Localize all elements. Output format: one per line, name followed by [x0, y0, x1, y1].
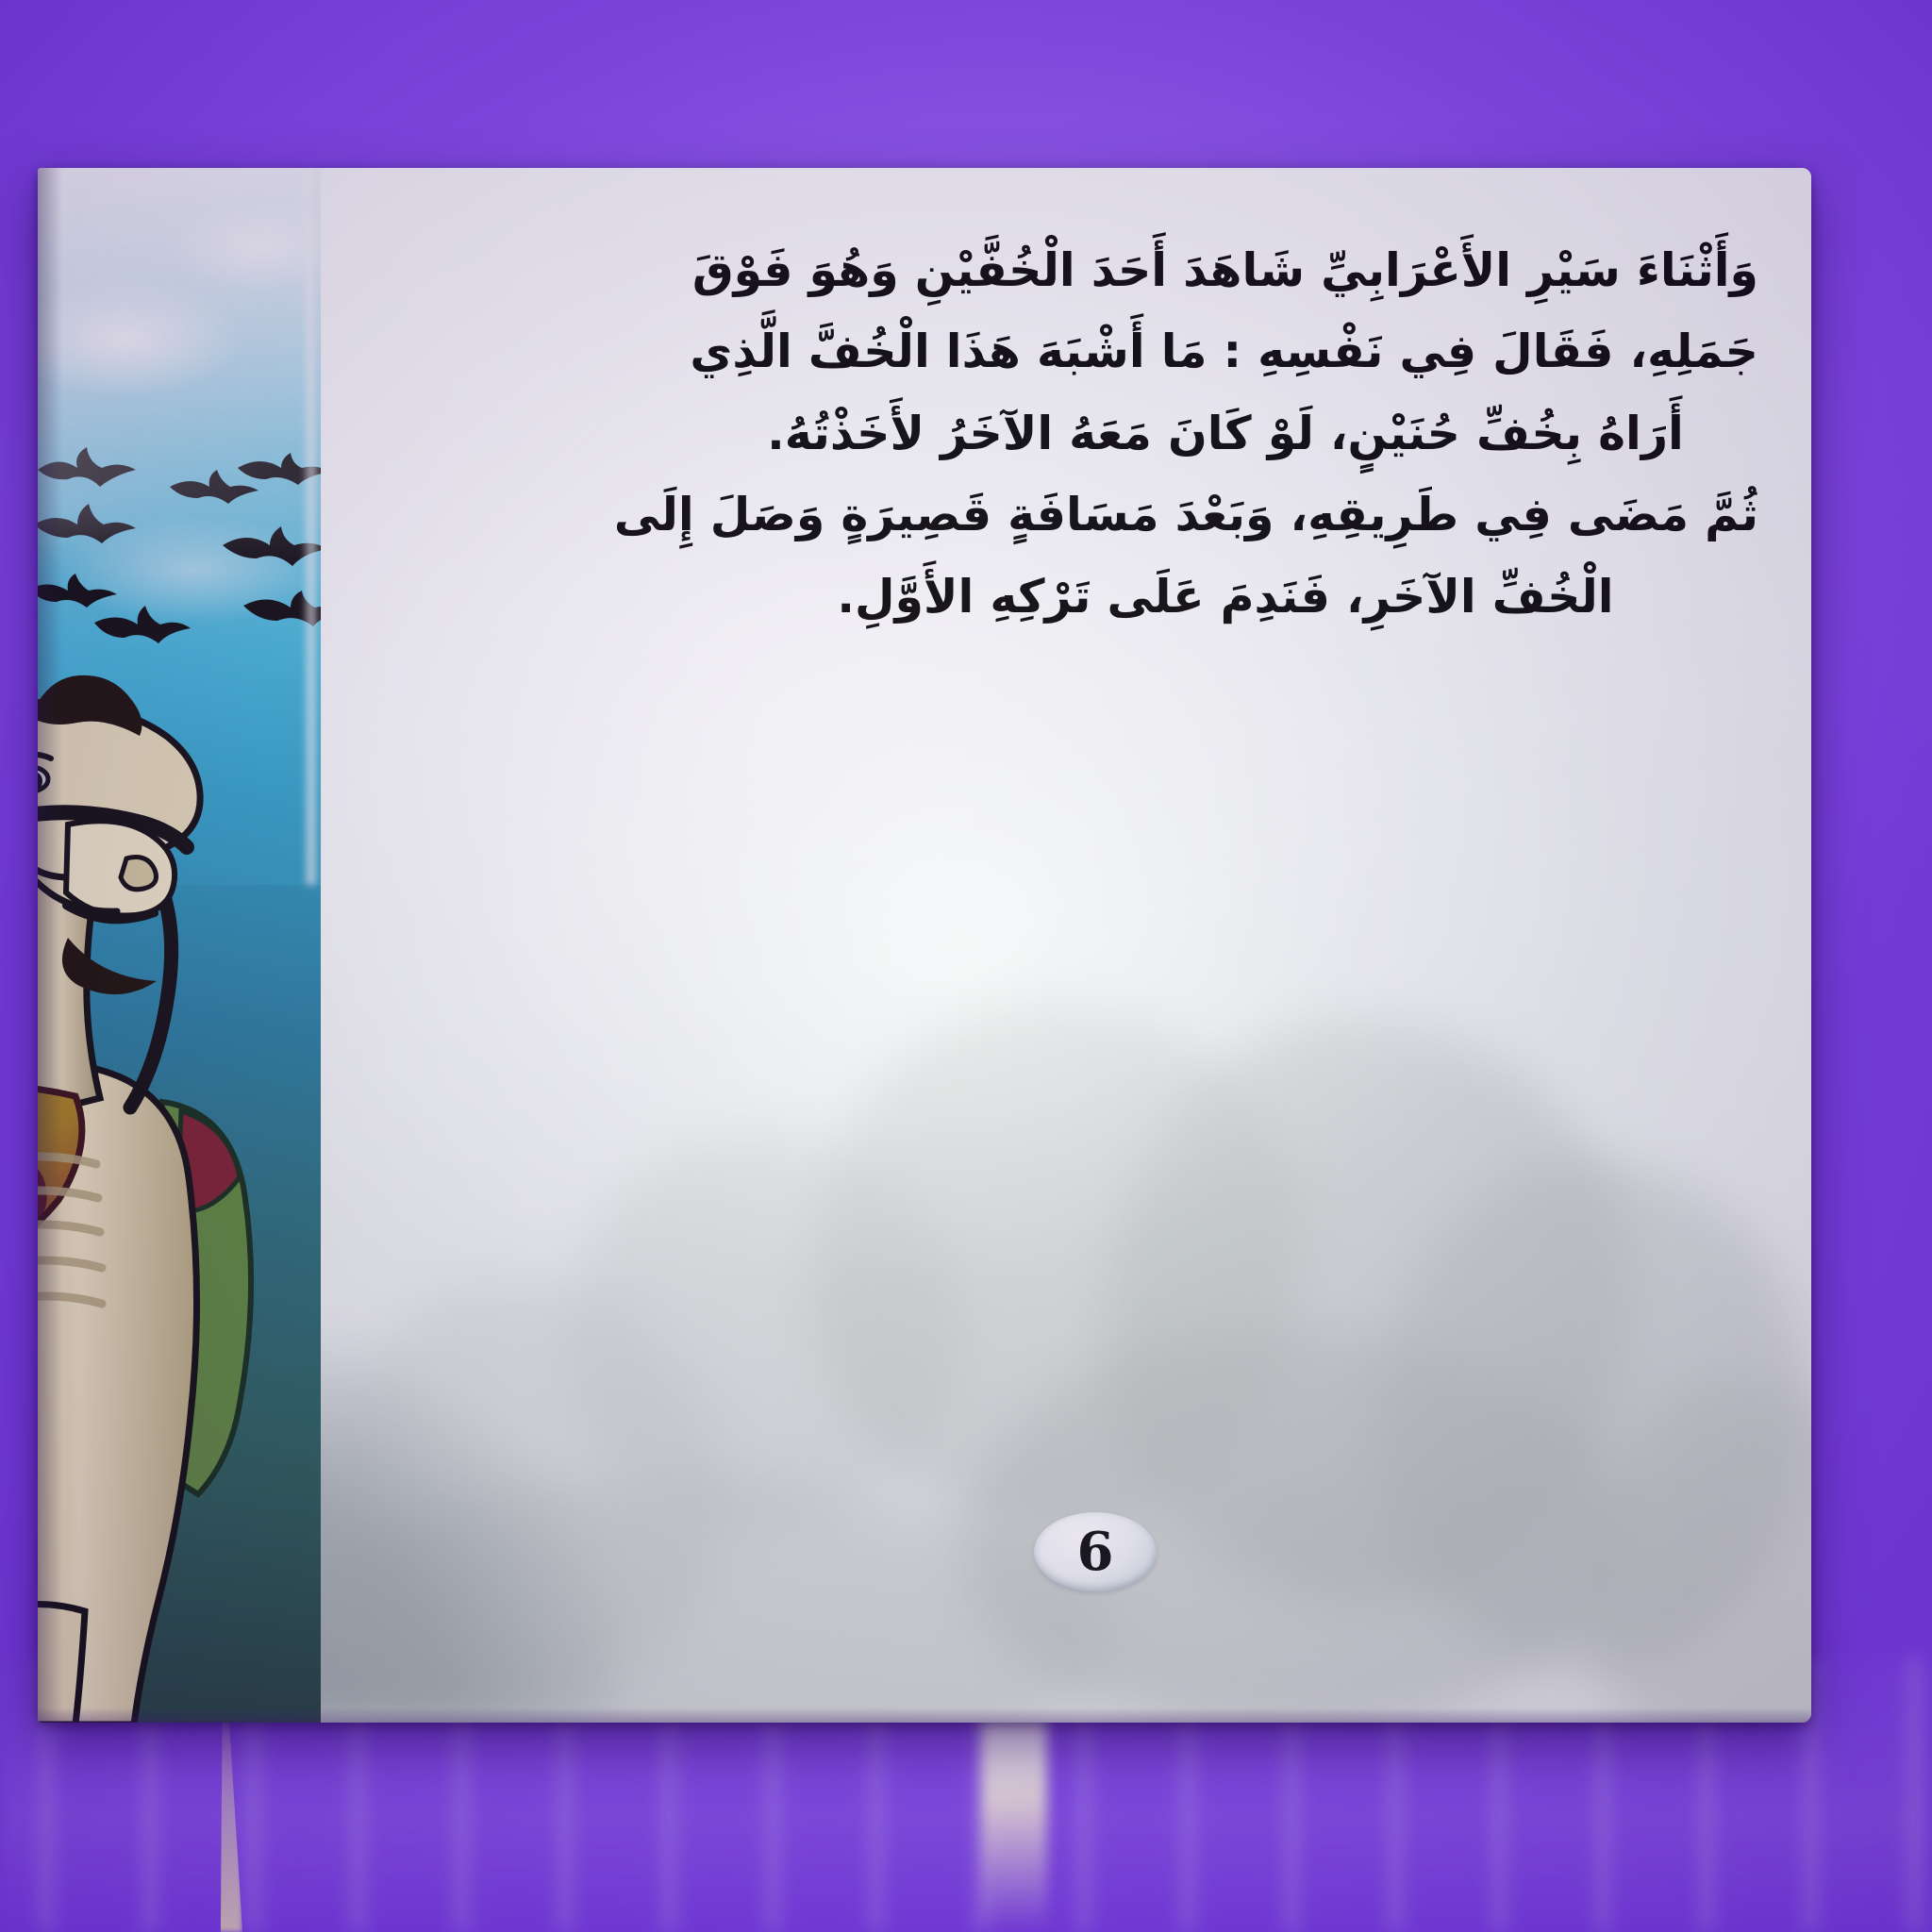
photo-scene: وَأَثْنَاءَ سَيْرِ الأَعْرَابِيِّ شَاهَد…: [0, 0, 1932, 1932]
paper-crease: [304, 168, 317, 885]
camel-illustration: [38, 658, 321, 1723]
left-illustration-panel: [38, 168, 321, 1723]
story-line-3: أَرَاهُ بِخُفِّ حُنَيْنٍ، لَوْ كَانَ مَع…: [692, 397, 1758, 471]
flying-birds-icon: [38, 404, 321, 687]
story-line-1: وَأَثْنَاءَ سَيْرِ الأَعْرَابِيِّ شَاهَد…: [692, 234, 1758, 308]
story-line-5: الْخُفِّ الآخَرِ، فَنَدِمَ عَلَى تَرْكِه…: [692, 560, 1758, 634]
story-text: وَأَثْنَاءَ سَيْرِ الأَعْرَابِيِّ شَاهَد…: [692, 234, 1758, 641]
story-line-4: ثُمَّ مَضَى فِي طَرِيقِهِ، وَبَعْدَ مَسَ…: [692, 478, 1758, 552]
storybook-page: وَأَثْنَاءَ سَيْرِ الأَعْرَابِيِّ شَاهَد…: [38, 168, 1811, 1723]
page-spine-shadow: [38, 168, 62, 1723]
page-number-badge: 6: [1034, 1512, 1157, 1591]
story-line-2: جَمَلِهِ، فَقَالَ فِي نَفْسِهِ : مَا أَش…: [692, 315, 1758, 389]
page-number-value: 6: [1077, 1521, 1114, 1583]
surface-highlight-reflection: [981, 1696, 1047, 1932]
page-bottom-edge: [38, 1707, 1811, 1723]
